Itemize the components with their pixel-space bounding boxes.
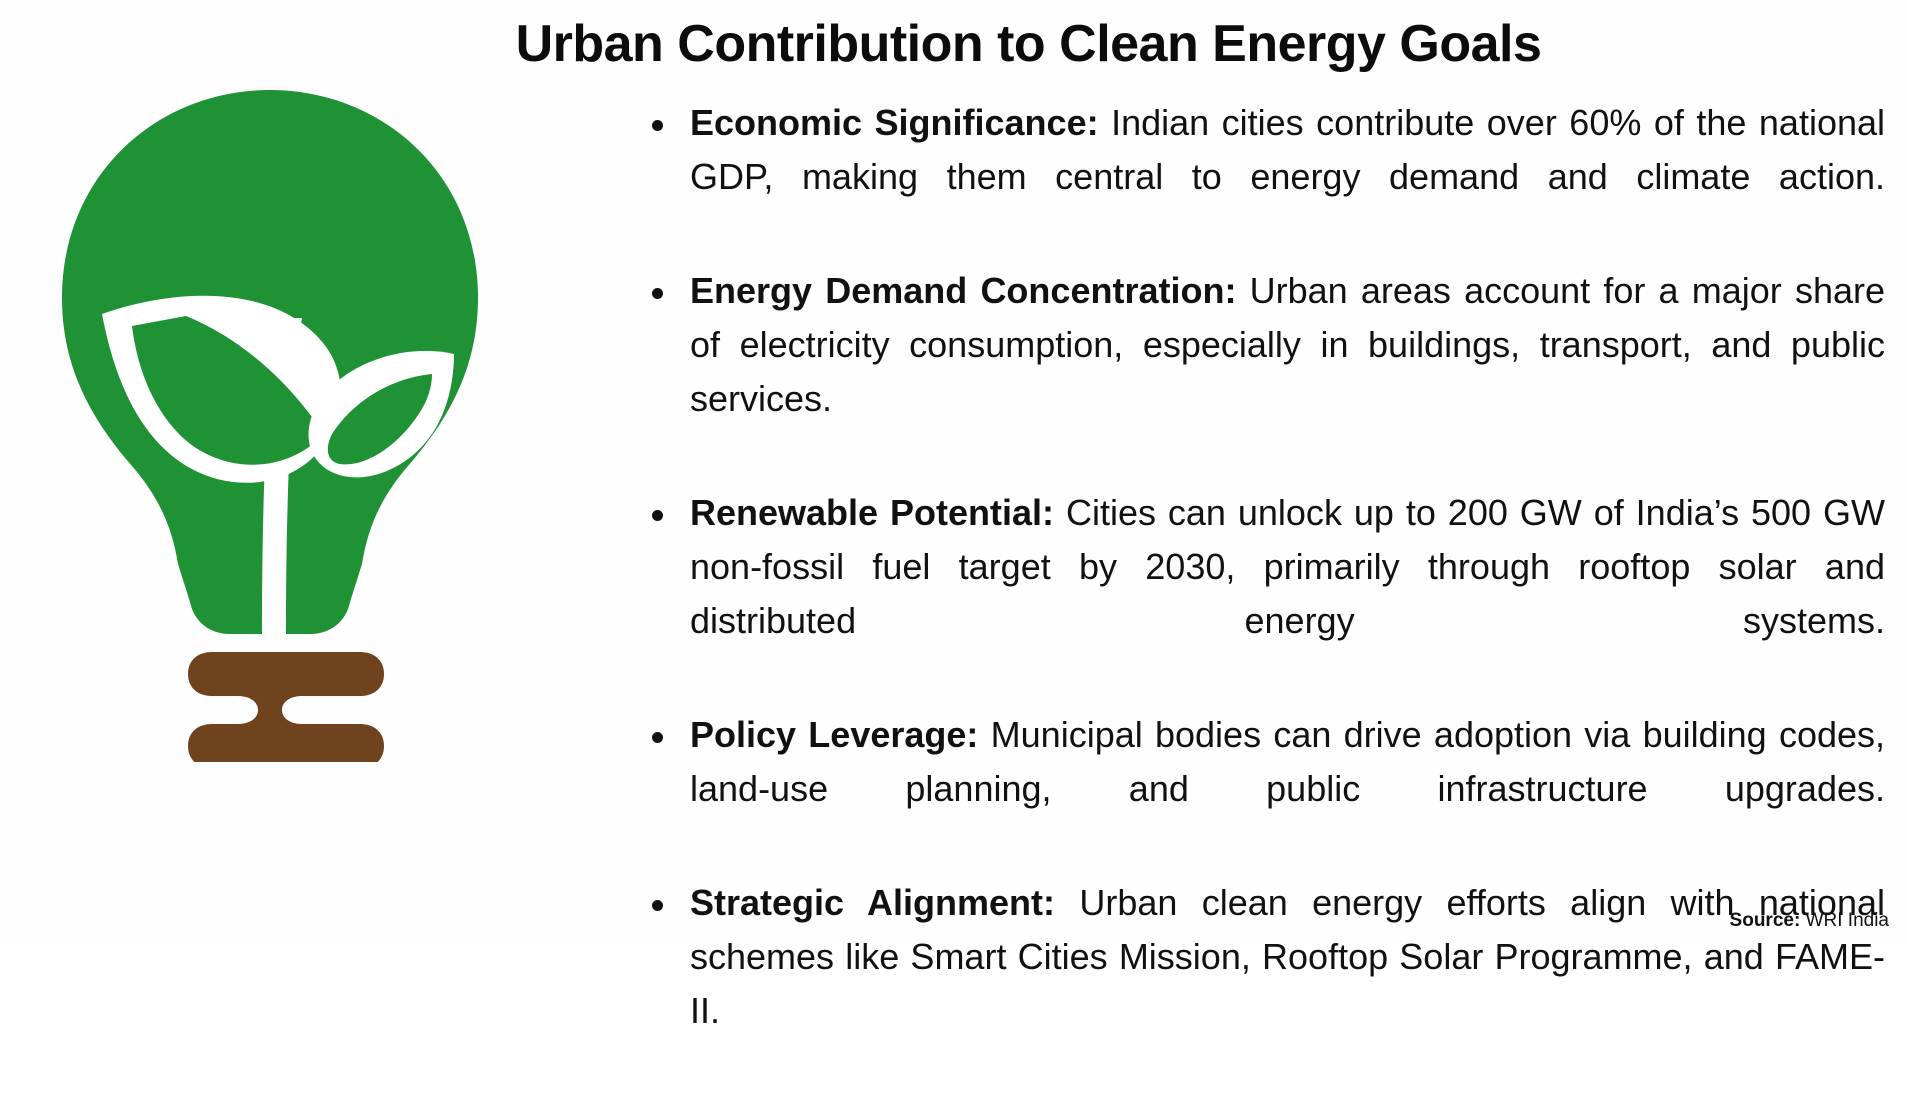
source-attribution: Source: WRI India: [1730, 909, 1889, 933]
bulb-screw-base-shape: [188, 652, 384, 762]
list-item: Economic Significance: Indian cities con…: [640, 96, 1885, 258]
bullet-content-column: Economic Significance: Indian cities con…: [640, 96, 1885, 1098]
list-item: Renewable Potential: Cities can unlock u…: [640, 486, 1885, 702]
illustration-column: [40, 82, 500, 762]
list-item-lead: Policy Leverage:: [690, 714, 978, 755]
page-title: Urban Contribution to Clean Energy Goals: [0, 14, 1907, 74]
list-item: Energy Demand Concentration: Urban areas…: [640, 264, 1885, 480]
source-value: WRI India: [1800, 910, 1889, 931]
list-item-lead: Energy Demand Concentration:: [690, 270, 1236, 311]
list-item-lead: Renewable Potential:: [690, 492, 1054, 533]
slide-canvas: Urban Contribution to Clean Energy Goals…: [0, 0, 1907, 943]
green-lightbulb-with-sprout-icon: [40, 82, 500, 762]
list-item: Policy Leverage: Municipal bodies can dr…: [640, 708, 1885, 870]
list-item-lead: Economic Significance:: [690, 102, 1099, 143]
list-item-lead: Strategic Alignment:: [690, 882, 1055, 923]
list-item: Strategic Alignment: Urban clean energy …: [640, 876, 1885, 1092]
source-label: Source:: [1730, 910, 1801, 931]
